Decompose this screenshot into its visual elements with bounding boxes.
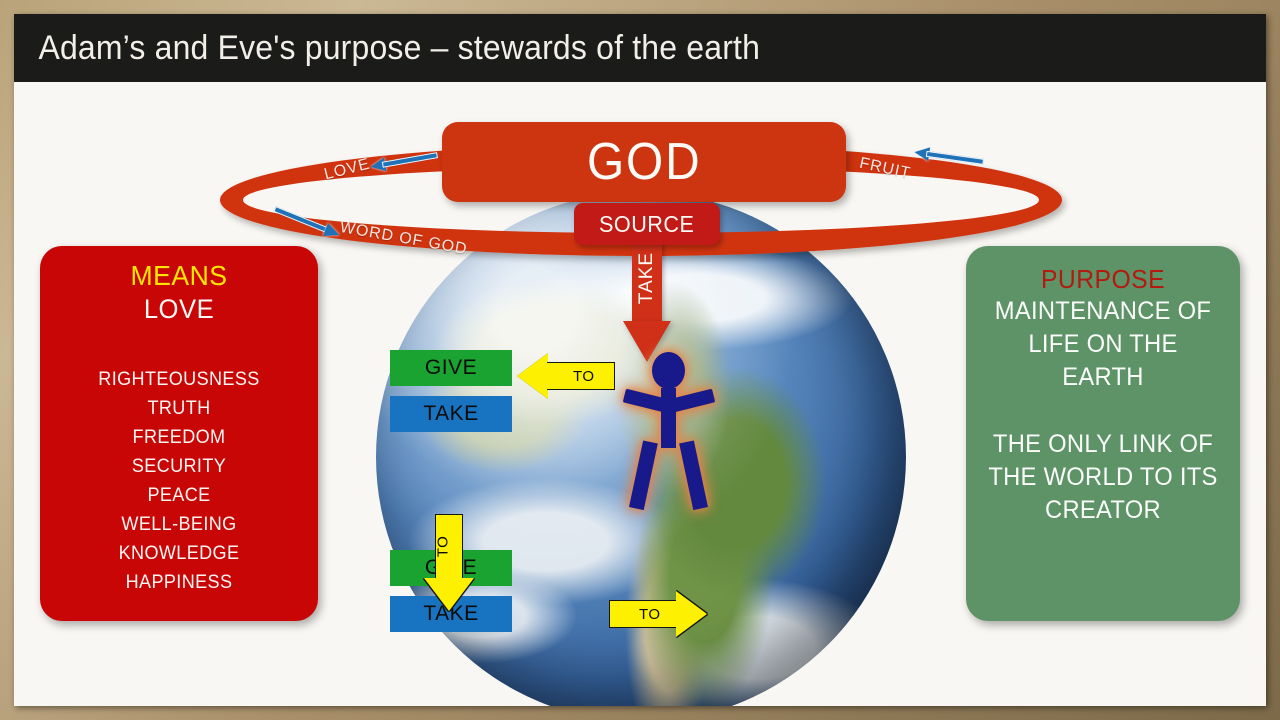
figure-leg-left bbox=[629, 440, 658, 510]
page-title: Adam’s and Eve's purpose – stewards of t… bbox=[14, 29, 760, 68]
slide-body: LOVE FRUIT WORD OF GOD GOD SOURCE bbox=[14, 82, 1266, 706]
purpose-line: CREATOR bbox=[986, 494, 1220, 527]
god-box: GOD bbox=[442, 122, 846, 202]
give-take-gap-top bbox=[390, 386, 512, 396]
give-take-group-top: GIVE TAKE bbox=[390, 350, 512, 432]
purpose-line: LIFE ON THE EARTH bbox=[986, 328, 1220, 394]
arrow-down-icon-take: TAKE bbox=[623, 241, 671, 362]
list-item: RIGHTEOUSNESS bbox=[47, 365, 311, 394]
purpose-line: THE ONLY LINK OF bbox=[986, 428, 1220, 461]
list-item: SECURITY bbox=[47, 452, 311, 481]
purpose-line: MAINTENANCE OF bbox=[986, 295, 1220, 328]
arrow-down-icon-to: TO bbox=[424, 514, 474, 612]
purpose-block-maintenance: MAINTENANCE OF LIFE ON THE EARTH bbox=[980, 295, 1226, 394]
means-panel: MEANS LOVE RIGHTEOUSNESS TRUTH FREEDOM S… bbox=[40, 246, 318, 621]
take-arrow-label: TAKE bbox=[636, 238, 658, 318]
take-box-top: TAKE bbox=[390, 396, 512, 432]
means-subtitle: LOVE bbox=[47, 294, 311, 325]
god-label: GOD bbox=[587, 132, 701, 192]
means-title: MEANS bbox=[47, 260, 311, 292]
figure-head bbox=[652, 352, 685, 389]
arrow-left-icon-to: TO bbox=[517, 353, 615, 399]
to-label-left: TO bbox=[573, 368, 595, 385]
give-box-top: GIVE bbox=[390, 350, 512, 386]
figure-torso bbox=[661, 388, 676, 448]
human-figure-icon bbox=[615, 352, 719, 512]
list-item: PEACE bbox=[47, 481, 311, 510]
to-label-down: TO bbox=[434, 536, 451, 558]
list-item: FREEDOM bbox=[47, 423, 311, 452]
purpose-title: PURPOSE bbox=[986, 264, 1220, 295]
purpose-block-link: THE ONLY LINK OF THE WORLD TO ITS CREATO… bbox=[980, 428, 1226, 527]
slide-frame: Adam’s and Eve's purpose – stewards of t… bbox=[0, 0, 1280, 720]
figure-leg-right bbox=[679, 440, 708, 510]
slide-canvas: Adam’s and Eve's purpose – stewards of t… bbox=[14, 14, 1266, 706]
purpose-panel: PURPOSE MAINTENANCE OF LIFE ON THE EARTH… bbox=[966, 246, 1240, 621]
list-item: KNOWLEDGE bbox=[47, 539, 311, 568]
source-box: SOURCE bbox=[574, 203, 720, 245]
list-item: HAPPINESS bbox=[47, 568, 311, 597]
list-item: WELL-BEING bbox=[47, 510, 311, 539]
purpose-line: THE WORLD TO ITS bbox=[986, 461, 1220, 494]
list-item: TRUTH bbox=[47, 394, 311, 423]
arrow-right-icon-to: TO bbox=[609, 591, 707, 637]
to-label-right: TO bbox=[639, 606, 661, 623]
source-label: SOURCE bbox=[599, 211, 694, 238]
means-list: RIGHTEOUSNESS TRUTH FREEDOM SECURITY PEA… bbox=[40, 365, 318, 597]
slide-title-bar: Adam’s and Eve's purpose – stewards of t… bbox=[14, 14, 1266, 82]
